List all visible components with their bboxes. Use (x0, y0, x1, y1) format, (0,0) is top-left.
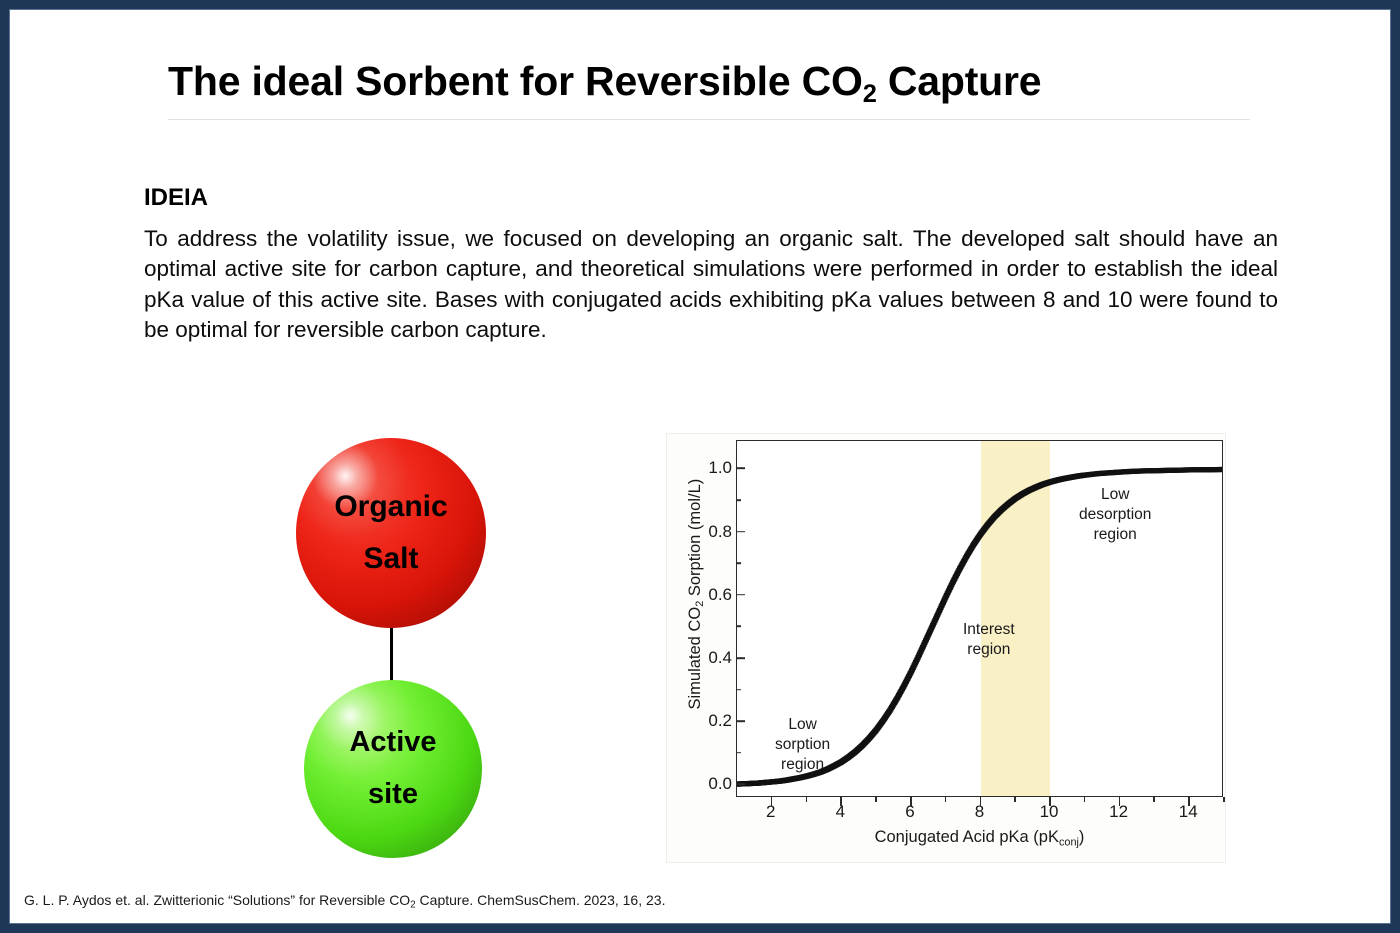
title-block: The ideal Sorbent for Reversible CO2 Cap… (168, 58, 1250, 120)
active-site-label-line2: site (368, 769, 418, 821)
organic-salt-label-line1: Organic (334, 481, 447, 533)
citation-part2: Capture. ChemSusChem. 2023, 16, 23. (416, 892, 666, 908)
body-block: IDEIA To address the volatility issue, w… (144, 184, 1278, 345)
active-site-sphere: Active site (304, 680, 482, 858)
chart-plot-area: Low sorption region Interest region Low … (736, 440, 1223, 797)
organic-salt-sphere: Organic Salt (296, 438, 486, 628)
sorbent-diagram: Organic Salt Active site (296, 438, 496, 868)
x-axis-label-subscript: conj (1059, 836, 1079, 848)
y-tick-minor (736, 562, 741, 564)
x-tick-mark (1188, 797, 1190, 806)
active-site-label-line1: Active (349, 717, 436, 769)
y-tick-minor (736, 626, 741, 628)
x-tick-minor (806, 797, 808, 802)
y-tick-label: 0.2 (686, 711, 732, 731)
citation: G. L. P. Aydos et. al. Zwitterionic “Sol… (24, 892, 665, 911)
slide: The ideal Sorbent for Reversible CO2 Cap… (0, 0, 1400, 933)
page-title-main: The ideal Sorbent for Reversible CO (168, 58, 863, 104)
body-paragraph: To address the volatility issue, we focu… (144, 224, 1278, 345)
section-heading: IDEIA (144, 184, 1278, 212)
x-tick-mark (1119, 797, 1121, 806)
page-title-tail: Capture (877, 58, 1042, 104)
x-tick-mark (771, 797, 773, 806)
bond-line (390, 618, 393, 688)
y-tick-minor (736, 752, 741, 754)
y-tick-mark (736, 784, 745, 786)
y-tick-mark (736, 657, 745, 659)
y-tick-label: 1.0 (686, 458, 732, 478)
y-tick-mark (736, 720, 745, 722)
page-title: The ideal Sorbent for Reversible CO2 Cap… (168, 58, 1250, 109)
y-tick-label: 0.8 (686, 522, 732, 542)
x-tick-minor (1014, 797, 1016, 802)
y-tick-minor (736, 499, 741, 501)
x-tick-minor (875, 797, 877, 802)
x-axis-label-tail: ) (1079, 828, 1085, 846)
y-tick-label: 0.4 (686, 648, 732, 668)
title-divider (168, 119, 1250, 120)
y-tick-mark (736, 594, 745, 596)
x-axis-label-main: Conjugated Acid pKa (pK (875, 828, 1059, 846)
organic-salt-label-line2: Salt (363, 533, 418, 585)
chart-x-axis-label: Conjugated Acid pKa (pKconj) (736, 828, 1223, 848)
x-tick-minor (1223, 797, 1225, 802)
x-tick-mark (840, 797, 842, 806)
y-tick-label: 0.0 (686, 774, 732, 794)
x-tick-mark (980, 797, 982, 806)
x-tick-mark (1049, 797, 1051, 806)
citation-part1: G. L. P. Aydos et. al. Zwitterionic “Sol… (24, 892, 410, 908)
sorption-chart: Simulated CO2 Sorption (mol/L) Low sorpt… (666, 433, 1226, 863)
slide-inner: The ideal Sorbent for Reversible CO2 Cap… (9, 9, 1391, 924)
x-tick-minor (1084, 797, 1086, 802)
sorption-curve (737, 441, 1223, 797)
y-tick-minor (736, 689, 741, 691)
y-tick-mark (736, 468, 745, 470)
x-tick-mark (910, 797, 912, 806)
page-title-subscript: 2 (863, 80, 877, 108)
x-tick-minor (1153, 797, 1155, 802)
y-tick-label: 0.6 (686, 585, 732, 605)
x-tick-minor (945, 797, 947, 802)
y-tick-mark (736, 531, 745, 533)
